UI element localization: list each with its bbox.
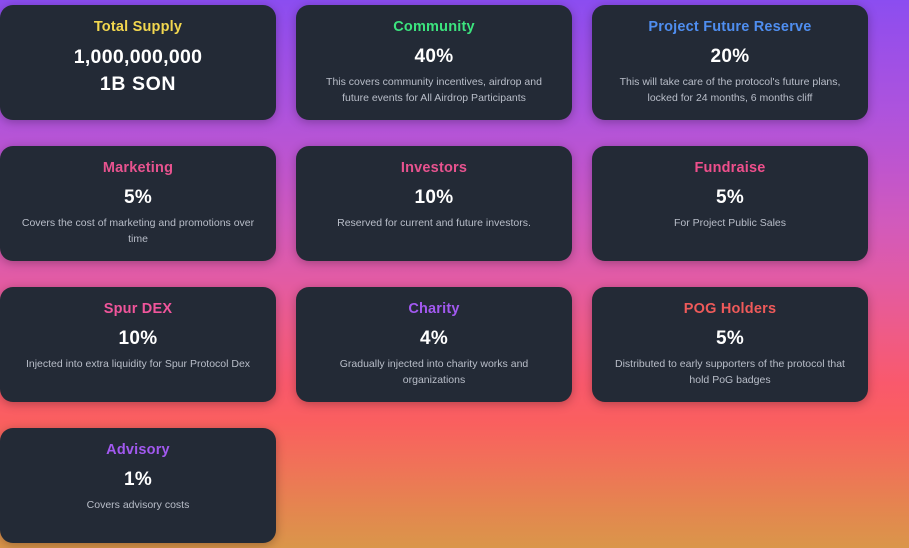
card-subvalue-total-supply: 1B SON: [100, 72, 176, 96]
card-title-total-supply: Total Supply: [94, 19, 182, 36]
card-title-marketing: Marketing: [103, 160, 173, 177]
card-description-advisory: Covers advisory costs: [87, 498, 190, 514]
stat-card-marketing: Marketing5%Covers the cost of marketing …: [0, 146, 276, 261]
card-description-fundraise: For Project Public Sales: [674, 216, 786, 232]
card-description-project-future-reserve: This will take care of the protocol's fu…: [611, 75, 849, 106]
tokenomics-card-grid: Total Supply1,000,000,0001B SONCommunity…: [0, 0, 909, 548]
card-value-charity: 4%: [420, 327, 448, 351]
card-title-project-future-reserve: Project Future Reserve: [648, 19, 811, 36]
stat-card-fundraise: Fundraise5%For Project Public Sales: [592, 146, 868, 261]
stat-card-community: Community40%This covers community incent…: [296, 5, 572, 120]
card-description-community: This covers community incentives, airdro…: [315, 75, 553, 106]
card-value-total-supply: 1,000,000,000: [74, 45, 203, 69]
stat-card-spur-dex: Spur DEX10%Injected into extra liquidity…: [0, 287, 276, 402]
card-title-fundraise: Fundraise: [694, 160, 765, 177]
stat-card-total-supply: Total Supply1,000,000,0001B SON: [0, 5, 276, 120]
stat-card-project-future-reserve: Project Future Reserve20%This will take …: [592, 5, 868, 120]
card-description-marketing: Covers the cost of marketing and promoti…: [19, 216, 257, 247]
card-description-pog-holders: Distributed to early supporters of the p…: [611, 357, 849, 388]
card-title-pog-holders: POG Holders: [684, 301, 776, 318]
card-value-pog-holders: 5%: [716, 327, 744, 351]
card-title-charity: Charity: [408, 301, 459, 318]
card-value-spur-dex: 10%: [119, 327, 158, 351]
stat-card-investors: Investors10%Reserved for current and fut…: [296, 146, 572, 261]
card-description-spur-dex: Injected into extra liquidity for Spur P…: [26, 357, 250, 373]
card-title-community: Community: [393, 19, 475, 36]
card-title-advisory: Advisory: [106, 442, 170, 459]
stat-card-advisory: Advisory1%Covers advisory costs: [0, 428, 276, 543]
card-title-investors: Investors: [401, 160, 467, 177]
card-value-advisory: 1%: [124, 468, 152, 492]
card-value-marketing: 5%: [124, 186, 152, 210]
card-description-investors: Reserved for current and future investor…: [337, 216, 531, 232]
card-title-spur-dex: Spur DEX: [104, 301, 172, 318]
card-value-fundraise: 5%: [716, 186, 744, 210]
stat-card-pog-holders: POG Holders5%Distributed to early suppor…: [592, 287, 868, 402]
stat-card-charity: Charity4%Gradually injected into charity…: [296, 287, 572, 402]
card-description-charity: Gradually injected into charity works an…: [315, 357, 553, 388]
card-value-community: 40%: [415, 45, 454, 69]
card-value-project-future-reserve: 20%: [711, 45, 750, 69]
card-value-investors: 10%: [415, 186, 454, 210]
